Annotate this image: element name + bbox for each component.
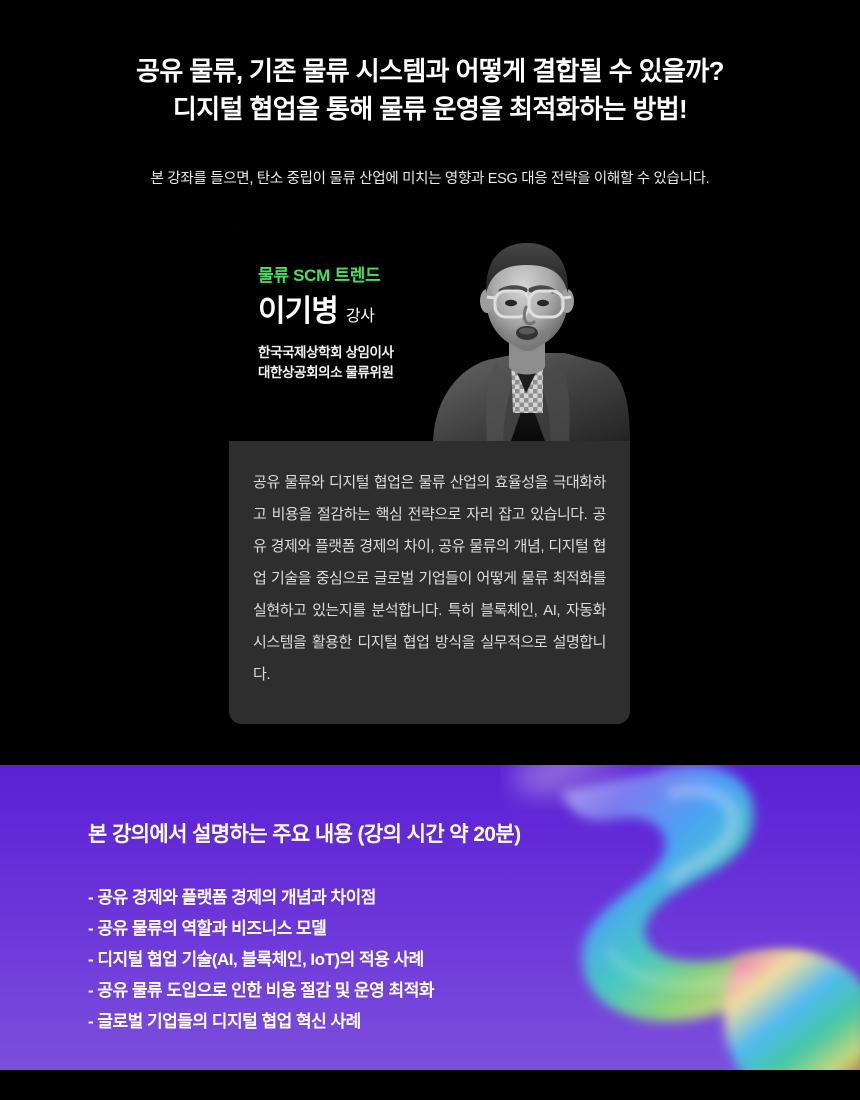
headline-line-2: 디지털 협업을 통해 물류 운영을 최적화하는 방법! <box>0 90 860 128</box>
instructor-info-block: 물류 SCM 트렌드 이기병 강사 한국국제상학회 상임이사 대한상공회의소 물… <box>258 265 394 383</box>
footer-spacer <box>0 1070 860 1100</box>
list-item: - 공유 경제와 플랫폼 경제의 개념과 차이점 <box>88 882 434 913</box>
curriculum-section: 본 강의에서 설명하는 주요 내용 (강의 시간 약 20분) - 공유 경제와… <box>0 765 860 1070</box>
list-item: - 공유 물류의 역할과 비즈니스 모델 <box>88 913 434 944</box>
curriculum-list: - 공유 경제와 플랫폼 경제의 개념과 차이점 - 공유 물류의 역할과 비즈… <box>88 882 434 1037</box>
instructor-name: 이기병 <box>258 295 338 329</box>
instructor-portrait-photo <box>425 227 630 441</box>
headline-line-1: 공유 물류, 기존 물류 시스템과 어떻게 결합될 수 있을까? <box>0 52 860 90</box>
instructor-thumbnail: 물류 SCM 트렌드 이기병 강사 한국국제상학회 상임이사 대한상공회의소 물… <box>229 227 630 441</box>
instructor-credential-line-2: 대한상공회의소 물류위원 <box>258 363 394 383</box>
promo-page: 공유 물류, 기존 물류 시스템과 어떻게 결합될 수 있을까? 디지털 협업을… <box>0 0 860 1100</box>
instructor-name-row: 이기병 강사 <box>258 295 394 329</box>
course-description-panel: 공유 물류와 디지털 협업은 물류 산업의 효율성을 극대화하고 비용을 절감하… <box>229 441 630 724</box>
gradient-ribbon-decoration <box>500 765 860 1070</box>
hero-subheading: 본 강좌를 들으면, 탄소 중립이 물류 산업에 미치는 영향과 ESG 대응 … <box>0 168 860 190</box>
curriculum-title: 본 강의에서 설명하는 주요 내용 (강의 시간 약 20분) <box>88 818 521 848</box>
list-item: - 글로벌 기업들의 디지털 협업 혁신 사례 <box>88 1006 434 1037</box>
course-topic-label: 물류 SCM 트렌드 <box>258 265 394 287</box>
course-description-text: 공유 물류와 디지털 협업은 물류 산업의 효율성을 극대화하고 비용을 절감하… <box>253 467 606 691</box>
instructor-card: 물류 SCM 트렌드 이기병 강사 한국국제상학회 상임이사 대한상공회의소 물… <box>229 227 630 724</box>
list-item: - 디지털 협업 기술(AI, 블록체인, IoT)의 적용 사례 <box>88 944 434 975</box>
list-item: - 공유 물류 도입으로 인한 비용 절감 및 운영 최적화 <box>88 975 434 1006</box>
instructor-credential-line-1: 한국국제상학회 상임이사 <box>258 343 394 363</box>
instructor-credentials: 한국국제상학회 상임이사 대한상공회의소 물류위원 <box>258 343 394 383</box>
hero-section: 공유 물류, 기존 물류 시스템과 어떻게 결합될 수 있을까? 디지털 협업을… <box>0 0 860 765</box>
instructor-role-label: 강사 <box>346 302 375 326</box>
page-title: 공유 물류, 기존 물류 시스템과 어떻게 결합될 수 있을까? 디지털 협업을… <box>0 52 860 128</box>
